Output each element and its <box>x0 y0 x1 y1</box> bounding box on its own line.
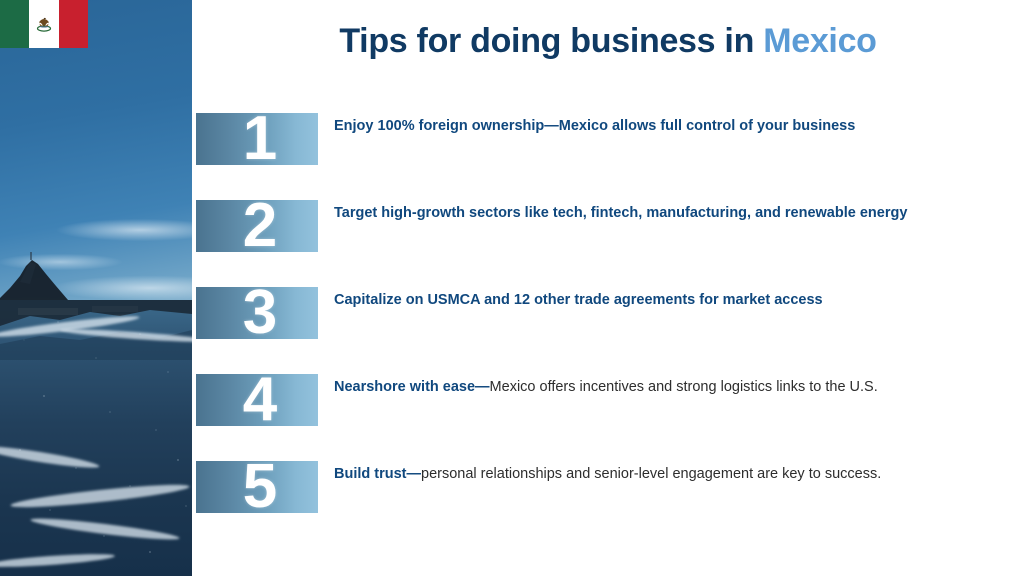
list-item: 5 Build trust—personal relationships and… <box>192 461 1024 548</box>
flag-stripe-red <box>59 0 88 48</box>
list-item: 2 Target high-growth sectors like tech, … <box>192 200 1024 287</box>
page-title-accent: Mexico <box>763 22 876 60</box>
flag-eagle-emblem-icon <box>34 15 54 33</box>
tips-list: 1 Enjoy 100% foreign ownership—Mexico al… <box>192 113 1024 548</box>
mexico-coastline-photo <box>0 0 192 576</box>
page-title-main: Tips for doing business in <box>339 22 763 60</box>
tip-number-badge: 2 <box>196 200 318 252</box>
tip-number: 3 <box>196 282 318 344</box>
tip-number: 5 <box>196 456 318 518</box>
tip-body: Enjoy 100% foreign ownership—Mexico allo… <box>334 118 855 134</box>
list-item: 3 Capitalize on USMCA and 12 other trade… <box>192 287 1024 374</box>
tip-lead: Build trust— <box>334 466 421 482</box>
flag-stripe-green <box>0 0 29 48</box>
tip-number: 4 <box>196 369 318 431</box>
tip-text: Capitalize on USMCA and 12 other trade a… <box>334 289 994 312</box>
tip-text: Build trust—personal relationships and s… <box>334 463 994 486</box>
tip-text: Target high-growth sectors like tech, fi… <box>334 202 994 225</box>
tip-body: Target high-growth sectors like tech, fi… <box>334 205 907 221</box>
slide-root: Tips for doing business in Mexico 1 Enjo… <box>0 0 1024 576</box>
list-item: 4 Nearshore with ease—Mexico offers ince… <box>192 374 1024 461</box>
tip-body: personal relationships and senior-level … <box>421 466 881 482</box>
tip-body: Capitalize on USMCA and 12 other trade a… <box>334 292 823 308</box>
tip-number: 1 <box>196 108 318 170</box>
content-area: Tips for doing business in Mexico 1 Enjo… <box>192 0 1024 576</box>
tip-text: Nearshore with ease—Mexico offers incent… <box>334 376 994 399</box>
tip-body: Mexico offers incentives and strong logi… <box>490 379 878 395</box>
tip-number-badge: 5 <box>196 461 318 513</box>
page-title: Tips for doing business in Mexico <box>192 22 1024 61</box>
tip-lead: Nearshore with ease— <box>334 379 490 395</box>
mexico-flag-icon <box>0 0 88 48</box>
tip-number: 2 <box>196 195 318 257</box>
tip-number-badge: 1 <box>196 113 318 165</box>
tip-text: Enjoy 100% foreign ownership—Mexico allo… <box>334 115 994 138</box>
flag-stripe-white <box>29 0 58 48</box>
tip-number-badge: 4 <box>196 374 318 426</box>
tip-number-badge: 3 <box>196 287 318 339</box>
list-item: 1 Enjoy 100% foreign ownership—Mexico al… <box>192 113 1024 200</box>
